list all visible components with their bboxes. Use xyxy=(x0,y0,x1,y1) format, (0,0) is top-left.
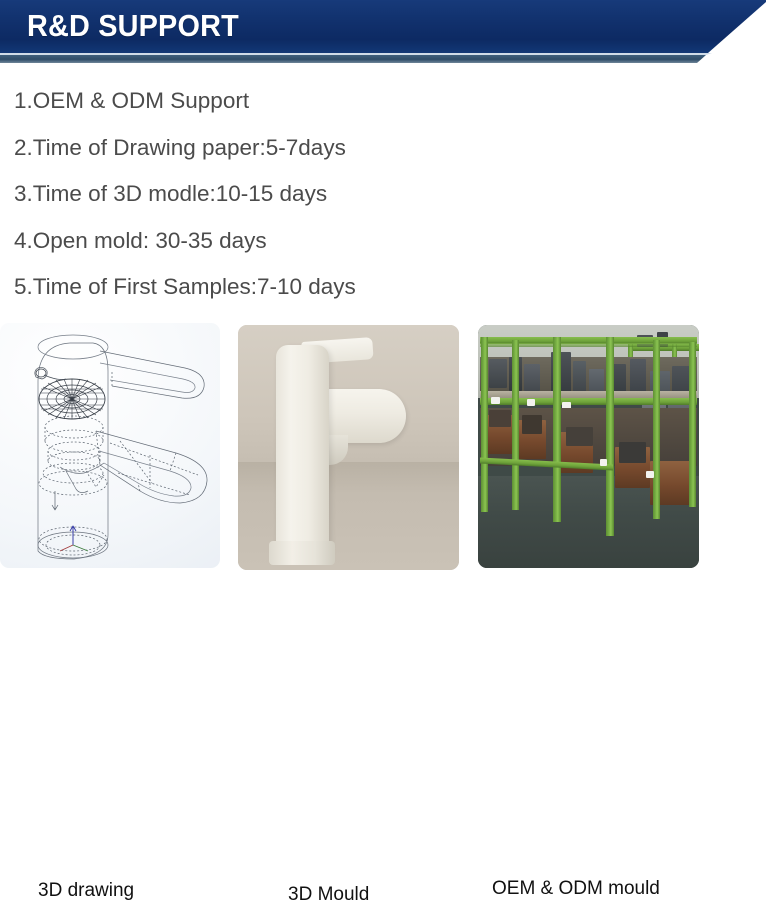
mould-photo-background xyxy=(238,325,459,570)
gallery-caption-oem-odm-mould: OEM & ODM mould xyxy=(492,878,660,900)
header-hairline-divider xyxy=(0,53,766,55)
warehouse-post xyxy=(512,340,519,510)
warehouse-label-tag xyxy=(646,471,654,478)
mould-faucet-body xyxy=(276,345,329,556)
page-header: R&D SUPPORT xyxy=(0,0,766,64)
warehouse-mould-block xyxy=(573,361,586,393)
gallery-image-3d-mould xyxy=(238,325,459,570)
warehouse-post xyxy=(689,342,696,507)
list-item: 5.Time of First Samples:7-10 days xyxy=(14,264,714,311)
warehouse-photo-background xyxy=(478,325,699,568)
warehouse-post xyxy=(606,337,614,536)
warehouse-mould-block xyxy=(522,415,542,434)
warehouse-mould-block xyxy=(489,359,507,388)
warehouse-mould-block xyxy=(524,364,539,391)
warehouse-mould-block xyxy=(566,427,593,446)
gallery-caption-3d-drawing: 3D drawing xyxy=(38,880,134,902)
gallery-image-oem-odm-mould xyxy=(478,325,699,568)
rnd-support-list: 1.OEM & ODM Support 2.Time of Drawing pa… xyxy=(14,78,714,311)
warehouse-mould-block xyxy=(619,442,646,464)
gallery-image-3d-drawing xyxy=(0,323,220,568)
warehouse-label-tag xyxy=(491,397,500,404)
gallery-strip: 3D drawing 3D Mould OEM & ODM mould xyxy=(0,320,766,598)
gallery-caption-3d-mould: 3D Mould xyxy=(288,884,369,906)
list-item: 1.OEM & ODM Support xyxy=(14,78,714,125)
cad-wireframe-faucet-icon xyxy=(0,323,220,568)
list-item: 2.Time of Drawing paper:5-7days xyxy=(14,125,714,172)
page-title: R&D SUPPORT xyxy=(27,7,239,45)
warehouse-mould-block xyxy=(489,410,511,427)
warehouse-label-tag xyxy=(600,459,608,466)
warehouse-post xyxy=(481,337,488,512)
list-item: 3.Time of 3D modle:10-15 days xyxy=(14,171,714,218)
warehouse-post xyxy=(653,340,660,520)
mould-faucet-base xyxy=(269,541,335,566)
header-accent-band xyxy=(0,55,766,63)
warehouse-post xyxy=(553,337,561,522)
list-item: 4.Open mold: 30-35 days xyxy=(14,218,714,265)
warehouse-label-tag xyxy=(527,399,536,406)
